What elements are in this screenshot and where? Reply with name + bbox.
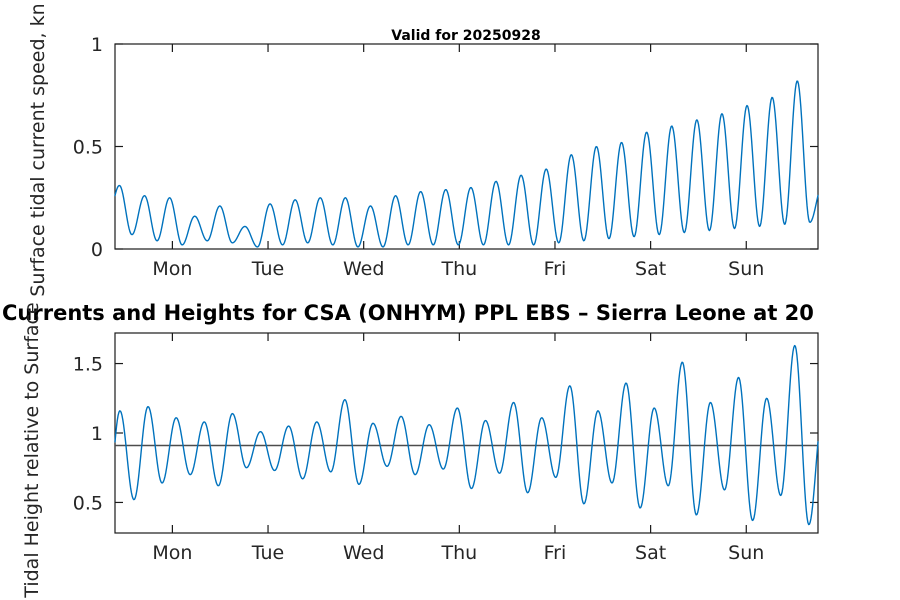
currents-y-tick-labels: 00.51 xyxy=(73,34,103,261)
y-tick-label: 0 xyxy=(91,239,103,261)
svg-text:Surface tidal current speed, k: Surface tidal current speed, kn xyxy=(27,3,49,296)
x-tick-label: Thu xyxy=(440,542,477,564)
heights-plot-box xyxy=(115,333,818,533)
x-tick-label: Wed xyxy=(343,542,384,564)
heights-data-line xyxy=(115,346,818,525)
x-tick-label: Wed xyxy=(343,258,384,280)
x-tick-label: Mon xyxy=(152,542,192,564)
y-tick-label: 1 xyxy=(91,34,103,56)
x-tick-label: Sun xyxy=(728,258,764,280)
x-tick-label: Sun xyxy=(728,542,764,564)
currents-x-tick-labels: MonTueWedThuFriSatSun xyxy=(152,258,764,280)
x-tick-label: Fri xyxy=(544,258,567,280)
currents-data-line xyxy=(115,81,818,247)
x-tick-label: Tue xyxy=(251,258,284,280)
figure-root: Valid for 20250928 Surface tidal current… xyxy=(0,0,900,600)
heights-chart: Tidal Height relative to Surface 0.511.5… xyxy=(21,302,818,598)
heights-y-tick-labels: 0.511.5 xyxy=(73,354,103,515)
x-tick-label: Sat xyxy=(635,258,666,280)
currents-chart-title: Valid for 20250928 xyxy=(391,28,540,44)
heights-x-tick-labels: MonTueWedThuFriSatSun xyxy=(152,542,764,564)
x-tick-label: Tue xyxy=(251,542,284,564)
currents-y-axis-label: Surface tidal current speed, kn xyxy=(27,3,49,296)
y-tick-label: 0.5 xyxy=(73,137,103,159)
figure-main-title: Currents and Heights for CSA (ONHYM) PPL… xyxy=(2,301,814,325)
heights-y-axis-label: Tidal Height relative to Surface xyxy=(21,302,43,598)
svg-text:Tidal Height relative to Surfa: Tidal Height relative to Surface xyxy=(21,302,43,598)
x-tick-label: Mon xyxy=(152,258,192,280)
heights-tick-marks xyxy=(115,333,818,533)
x-tick-label: Fri xyxy=(544,542,567,564)
y-tick-label: 1.5 xyxy=(73,354,103,376)
x-tick-label: Thu xyxy=(440,258,477,280)
x-tick-label: Sat xyxy=(635,542,666,564)
y-tick-label: 0.5 xyxy=(73,492,103,514)
y-tick-label: 1 xyxy=(91,423,103,445)
tide-figure: Valid for 20250928 Surface tidal current… xyxy=(0,0,900,600)
currents-chart: Valid for 20250928 Surface tidal current… xyxy=(27,3,818,296)
